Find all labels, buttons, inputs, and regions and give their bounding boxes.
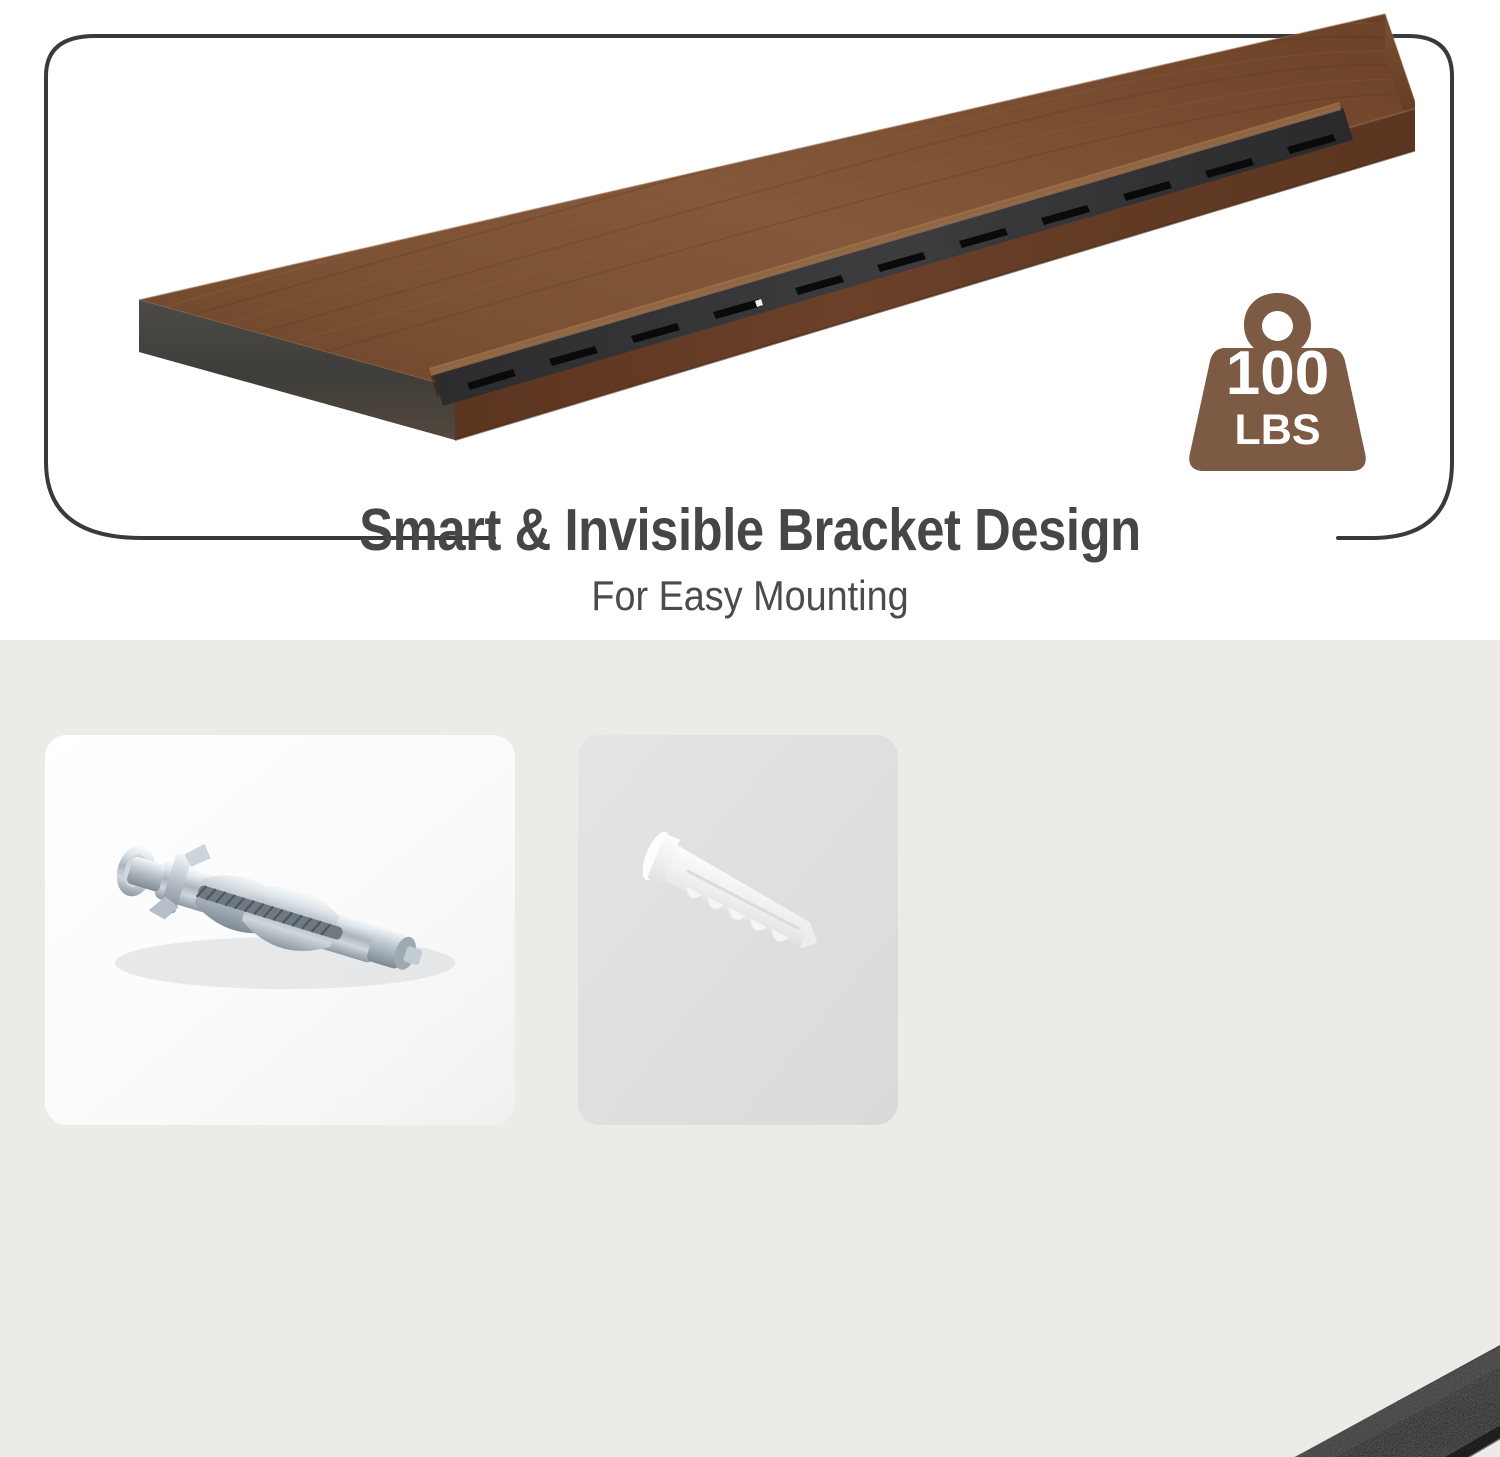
- weight-badge-icon: [1185, 285, 1370, 475]
- black-iron-pipe-image: [860, 1340, 1500, 1457]
- page-subtitle: For Easy Mounting: [75, 572, 1425, 620]
- metal-expansion-anchor-photo: [45, 735, 515, 1125]
- product-infographic: 100 LBS Smart & Invisible Bracket Design…: [0, 0, 1500, 1457]
- plastic-anchor-card: [578, 735, 898, 1125]
- metal-anchor-card: [45, 735, 515, 1125]
- top-feature-panel: 100 LBS Smart & Invisible Bracket Design…: [0, 0, 1500, 640]
- page-title: Smart & Invisible Bracket Design: [105, 496, 1395, 564]
- bottom-feature-panel: Upgrade Metal Anchors heavy-duty Made of…: [0, 640, 1500, 1457]
- iron-pipe-illustration: [860, 1340, 1500, 1457]
- plastic-wall-anchor-photo: [578, 735, 898, 1125]
- weight-capacity-badge: 100 LBS: [1185, 285, 1370, 475]
